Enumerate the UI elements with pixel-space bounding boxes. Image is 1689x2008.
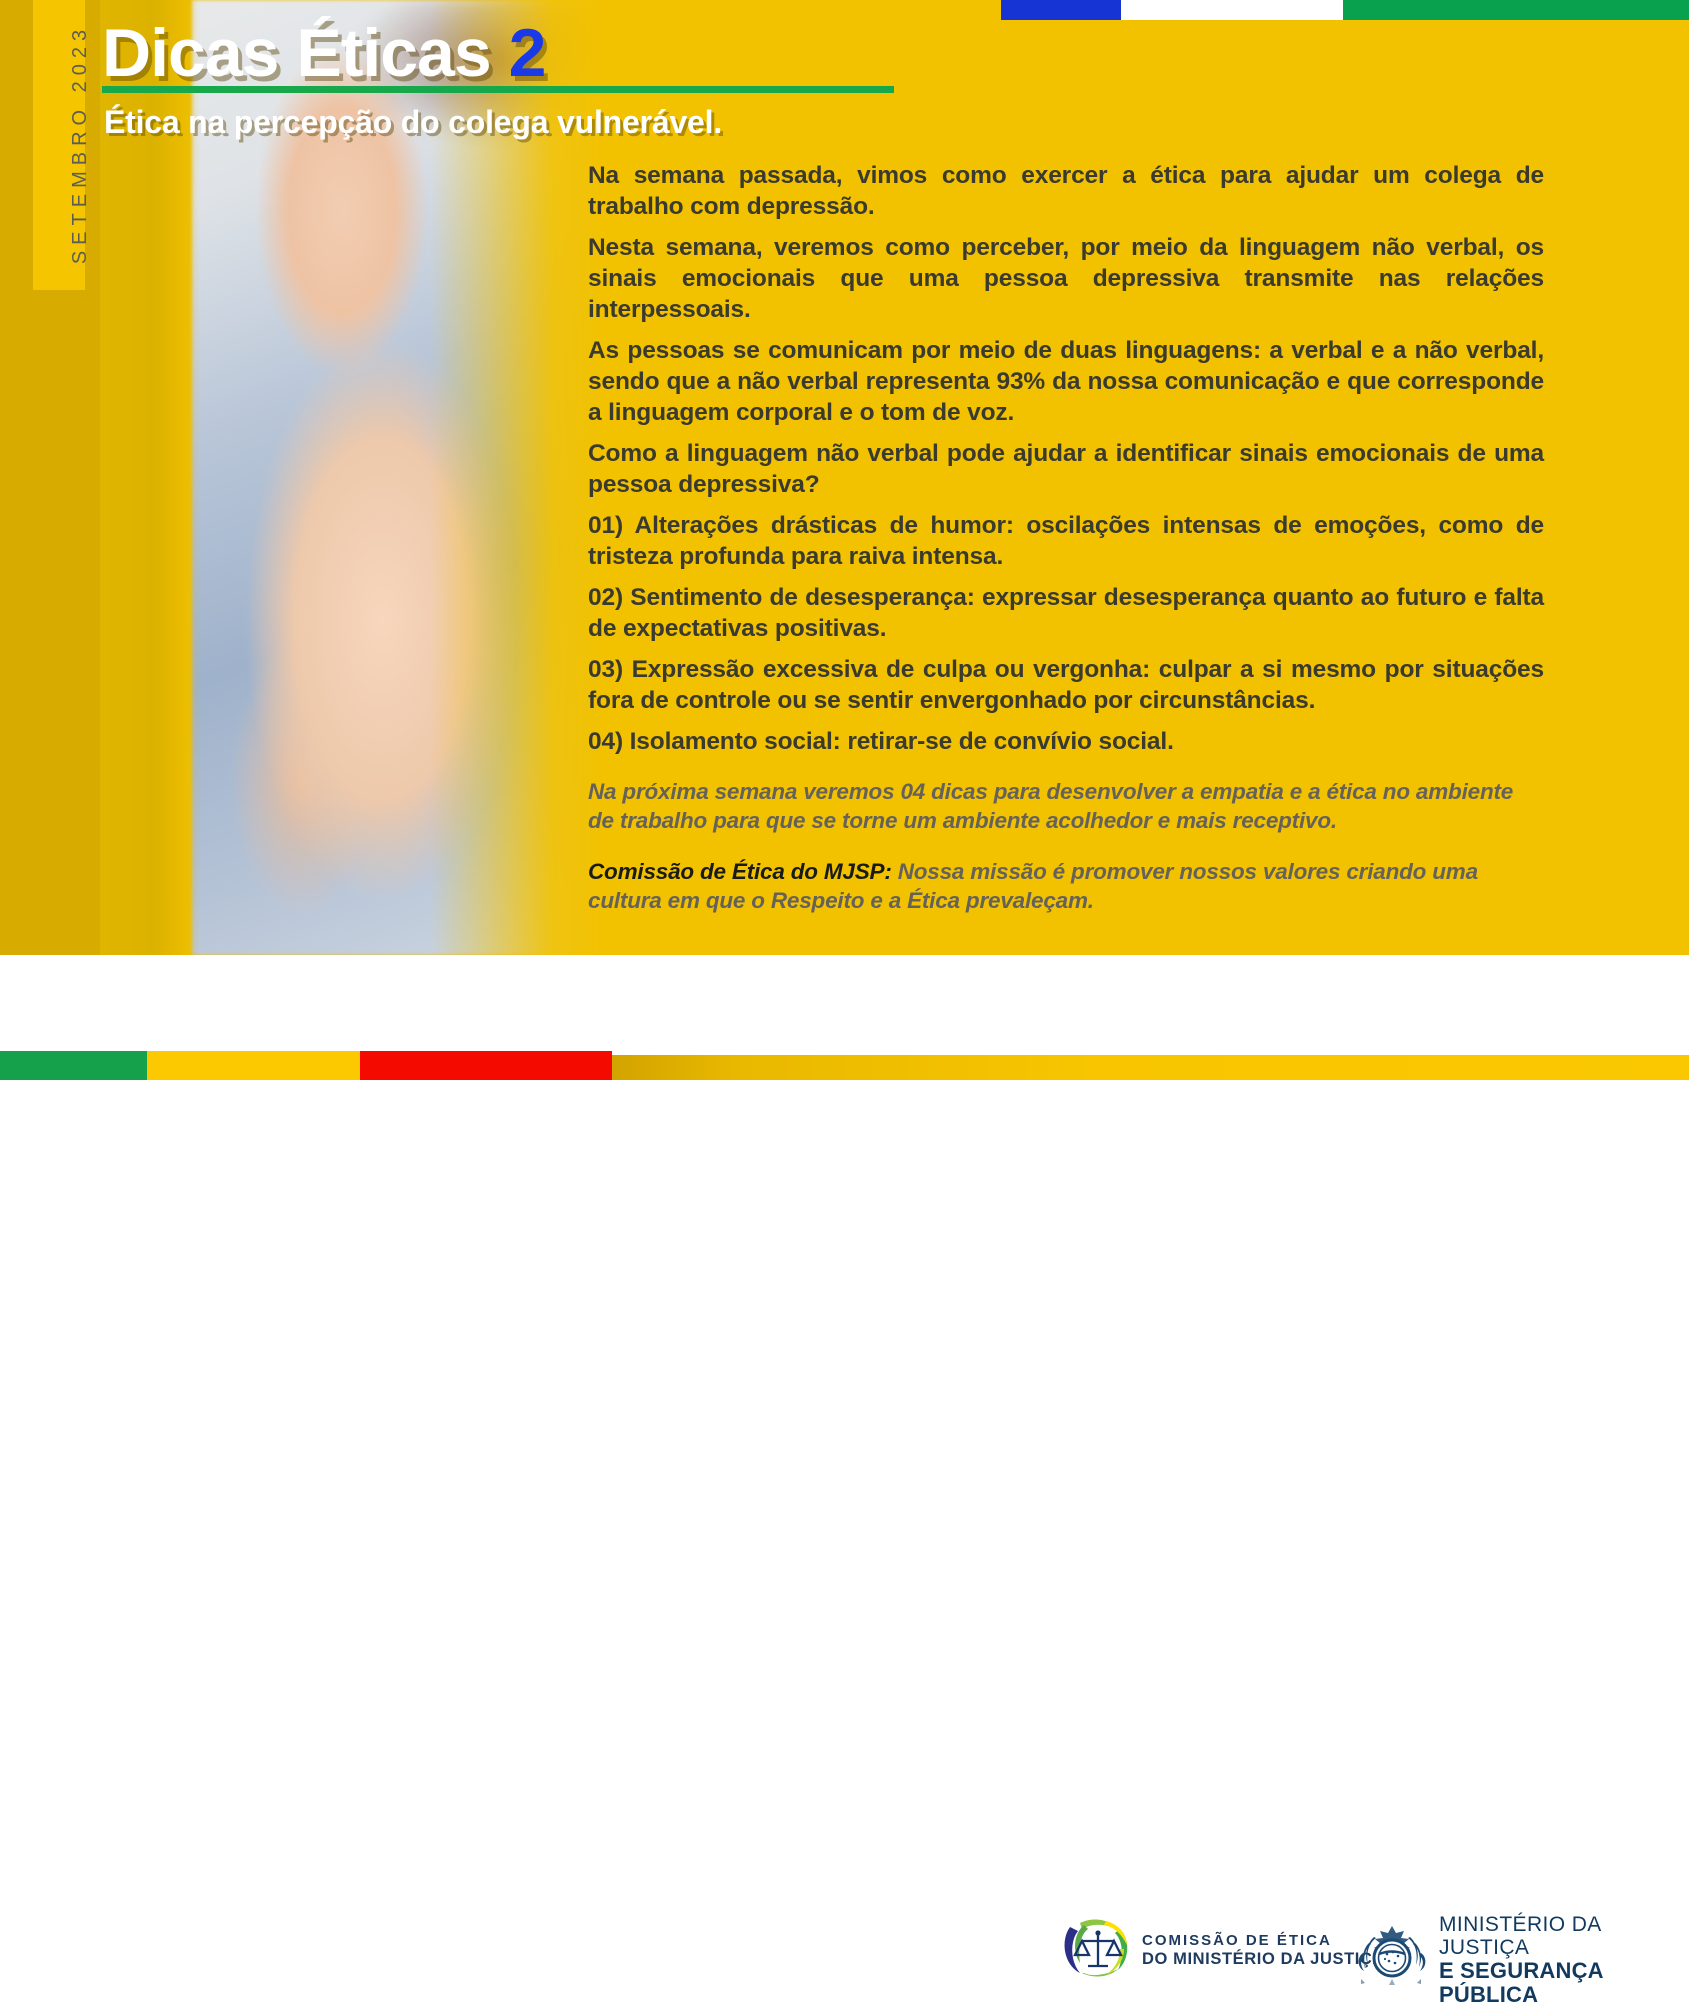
ministerio-justica-wordmark: MINISTÉRIO DA JUSTIÇA E SEGURANÇA PÚBLIC…	[1439, 1913, 1689, 2008]
page-title-number: 2	[509, 15, 546, 91]
page-title: Dicas Éticas 2	[102, 14, 545, 92]
comissao-etica-swirl-icon	[1060, 1915, 1132, 1986]
body-paragraph: 02) Sentimento de desesperança: expressa…	[588, 582, 1544, 644]
body-paragraph: 04) Isolamento social: retirar-se de con…	[588, 726, 1544, 757]
body-paragraph: Nesta semana, veremos como perceber, por…	[588, 232, 1544, 325]
hero-photo-fade-left	[100, 0, 200, 955]
body-paragraph: As pessoas se comunicam por meio de duas…	[588, 335, 1544, 428]
page-subtitle: Ética na percepção do colega vulnerável.	[104, 104, 722, 141]
comissao-etica-line1: COMISSÃO DE ÉTICA	[1142, 1933, 1385, 1950]
body-paragraph: Como a linguagem não verbal pode ajudar …	[588, 438, 1544, 500]
flag-bar-green	[1343, 0, 1689, 20]
title-underline	[102, 86, 894, 93]
next-week-note: Na próxima semana veremos 04 dicas para …	[588, 777, 1544, 835]
brasao-nacional-icon	[1355, 1923, 1429, 1998]
month-band: SETEMBRO 2023	[33, 0, 85, 290]
ministerio-line2: E SEGURANÇA PÚBLICA	[1439, 1959, 1689, 2007]
bottom-bar-green	[0, 1051, 147, 1080]
ministerio-line1: MINISTÉRIO DA JUSTIÇA	[1439, 1913, 1689, 1959]
footer-bar: COMISSÃO DE ÉTICA DO MINISTÉRIO DA JUSTI…	[0, 955, 1689, 1051]
body-paragraph: Na semana passada, vimos como exercer a …	[588, 160, 1544, 222]
body-paragraph: 03) Expressão excessiva de culpa ou verg…	[588, 654, 1544, 716]
bottom-bar-amber	[612, 1055, 1689, 1080]
bottom-bar-yellow	[147, 1051, 360, 1080]
comissao-etica-wordmark: COMISSÃO DE ÉTICA DO MINISTÉRIO DA JUSTI…	[1142, 1933, 1385, 1968]
signature-label: Comissão de Ética do MJSP:	[588, 859, 892, 884]
poster-canvas: SETEMBRO 2023 Dicas Éticas 2 Ética na pe…	[0, 0, 1689, 955]
comissao-etica-line2: DO MINISTÉRIO DA JUSTIÇA	[1142, 1950, 1385, 1968]
month-label: SETEMBRO 2023	[54, 0, 106, 289]
body-paragraph: 01) Alterações drásticas de humor: oscil…	[588, 510, 1544, 572]
flag-bar-white	[1121, 0, 1343, 20]
page-title-main: Dicas Éticas	[102, 15, 491, 91]
body-column: Na semana passada, vimos como exercer a …	[588, 160, 1544, 915]
bottom-bar-red	[360, 1051, 612, 1080]
comissao-etica-logo-group: COMISSÃO DE ÉTICA DO MINISTÉRIO DA JUSTI…	[1060, 1915, 1385, 1986]
hero-photo-fade-right	[430, 0, 605, 955]
signature-block: Comissão de Ética do MJSP: Nossa missão …	[588, 857, 1544, 915]
ministerio-justica-logo-group: MINISTÉRIO DA JUSTIÇA E SEGURANÇA PÚBLIC…	[1355, 1913, 1689, 2008]
flag-bar-blue	[1001, 0, 1121, 20]
